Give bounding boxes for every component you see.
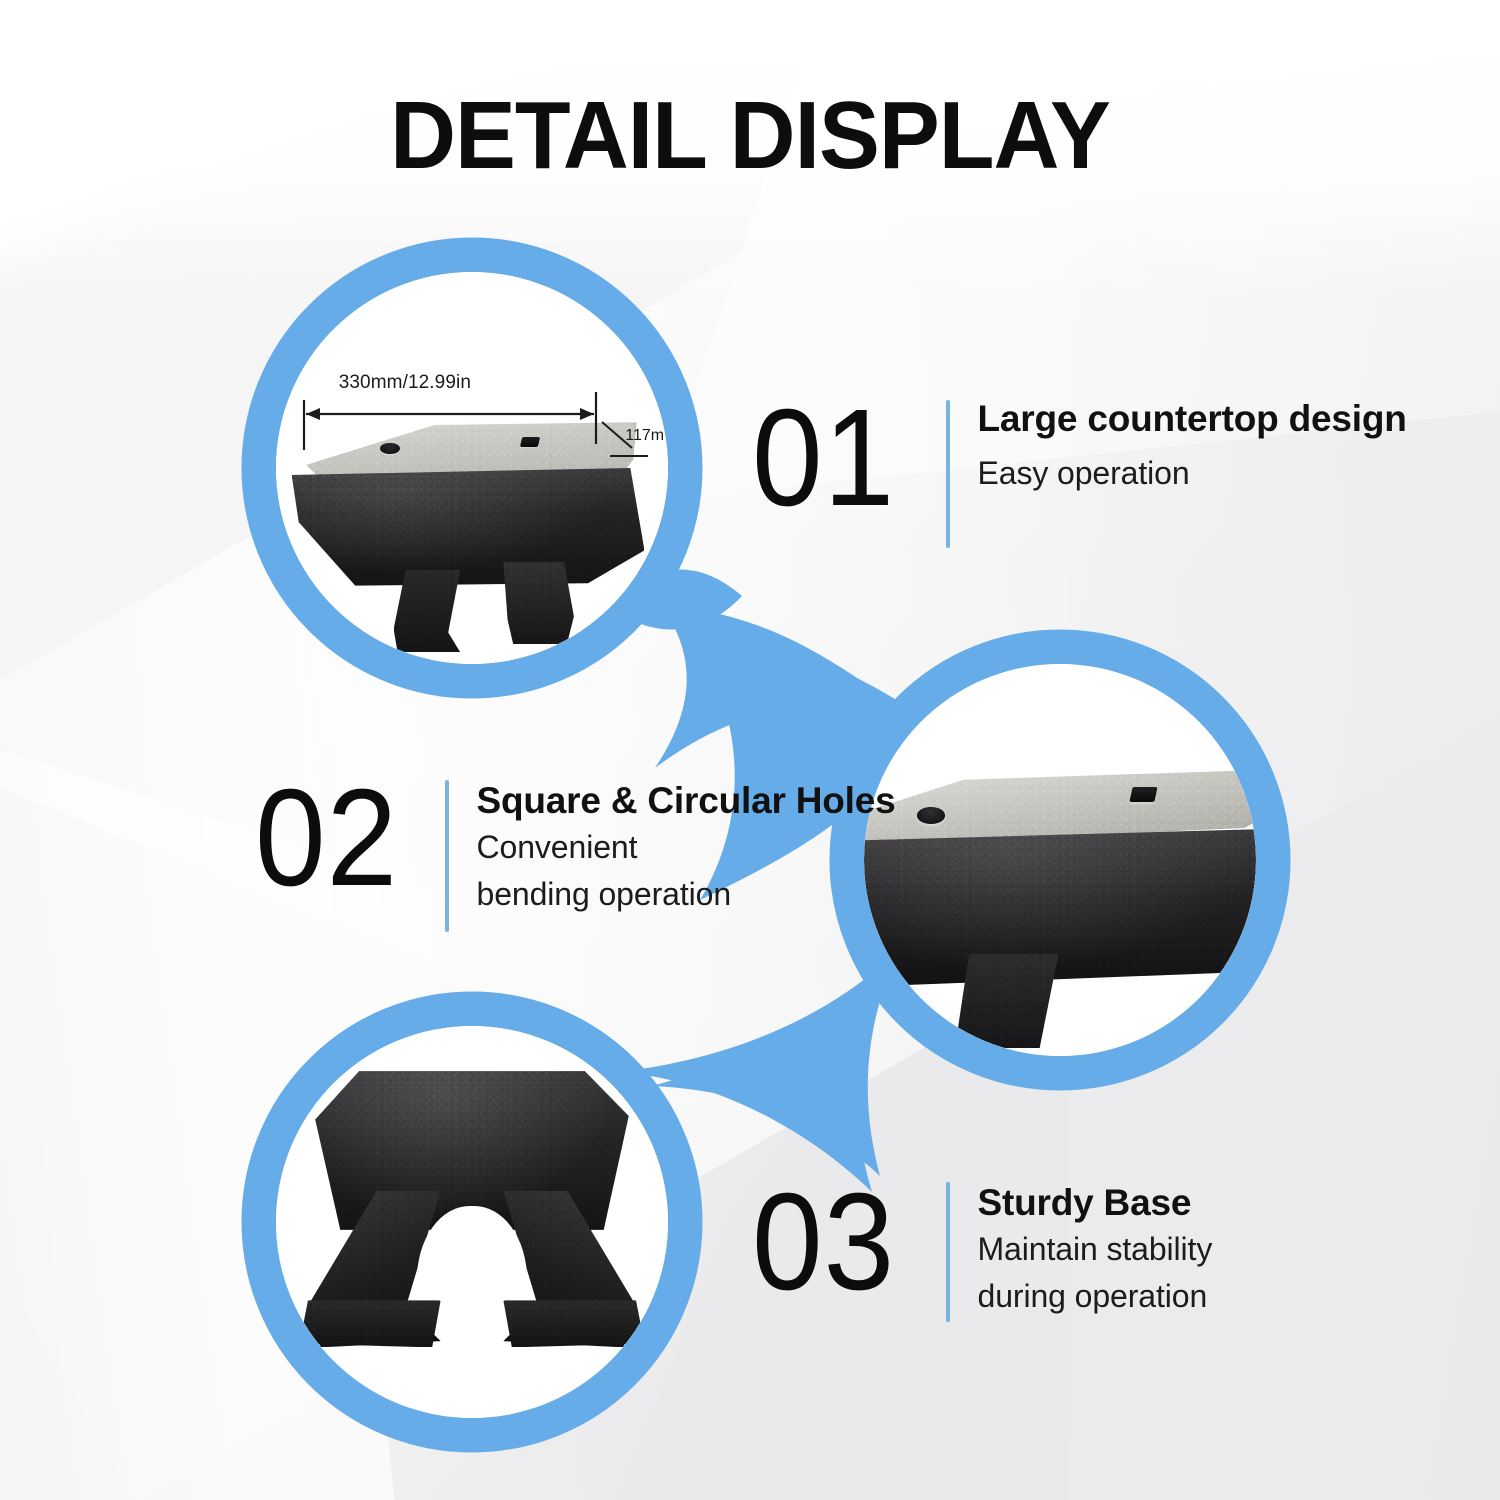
- feature-title-01: Large countertop design: [978, 398, 1407, 439]
- feature-number-02: 02: [255, 772, 398, 904]
- dim-arrow-left: [306, 408, 320, 420]
- product-photo-circle-1: 330mm/12.99in 117m: [276, 272, 668, 664]
- dimension-width-label: 330mm/12.99in: [339, 372, 471, 394]
- product-photo-circle-2: [864, 664, 1256, 1056]
- feature-subtitle-02-line-2: bending operation: [477, 874, 896, 915]
- feature-subtitle-01: Easy operation: [978, 453, 1407, 494]
- feature-divider-01: [946, 400, 950, 548]
- feature-divider-03: [946, 1182, 950, 1322]
- product-photo-circle-3: [276, 1026, 668, 1418]
- anvil-top-face-closeup: [864, 664, 1256, 1056]
- background-facets: [0, 0, 1500, 1500]
- dimension-annotations: [276, 272, 668, 664]
- anvil-body-closeup: [864, 829, 1256, 986]
- page-title: DETAIL DISPLAY: [38, 88, 1463, 184]
- blue-graphic-stage: [0, 0, 1500, 1500]
- feature-title-02: Square & Circular Holes: [477, 780, 896, 821]
- anvil-base-view: [276, 1026, 668, 1418]
- photo-1-inner: 330mm/12.99in 117m: [276, 272, 668, 664]
- feature-subtitle-03-line-1: Maintain stability: [978, 1229, 1213, 1270]
- feature-number-03: 03: [752, 1176, 895, 1308]
- round-hole-closeup: [917, 807, 945, 823]
- feature-text-01: Large countertop design Easy operation: [978, 398, 1407, 494]
- anvil-body-underside: [315, 1057, 629, 1229]
- feature-number-01: 01: [752, 392, 895, 524]
- photo-3-inner: [276, 1026, 668, 1418]
- feature-subtitle-03-line-2: during operation: [978, 1276, 1213, 1317]
- feature-block-02: 02 Square & Circular Holes Convenient be…: [255, 772, 896, 932]
- connector-2-to-3: [652, 966, 892, 1176]
- feature-block-01: 01 Large countertop design Easy operatio…: [752, 392, 1407, 548]
- feature-title-03: Sturdy Base: [978, 1182, 1213, 1223]
- photo-2-inner: [864, 664, 1256, 1056]
- anvil-foot-right: [503, 1300, 644, 1347]
- feature-text-03: Sturdy Base Maintain stability during op…: [978, 1182, 1213, 1317]
- dim-arrow-right: [580, 408, 594, 420]
- anvil-leg-closeup: [950, 954, 1068, 1048]
- feature-subtitle-02-line-1: Convenient: [477, 827, 896, 868]
- square-hole-closeup: [1129, 787, 1157, 802]
- dimension-height-label: 117m: [625, 427, 664, 445]
- feature-divider-02: [445, 780, 449, 932]
- facet-middle-band: [0, 0, 1500, 1500]
- feature-text-02: Square & Circular Holes Convenient bendi…: [477, 780, 896, 915]
- detail-display-page: DETAIL DISPLAY: [0, 0, 1500, 1500]
- anvil-foot-left: [300, 1300, 441, 1347]
- feature-block-03: 03 Sturdy Base Maintain stability during…: [752, 1176, 1212, 1322]
